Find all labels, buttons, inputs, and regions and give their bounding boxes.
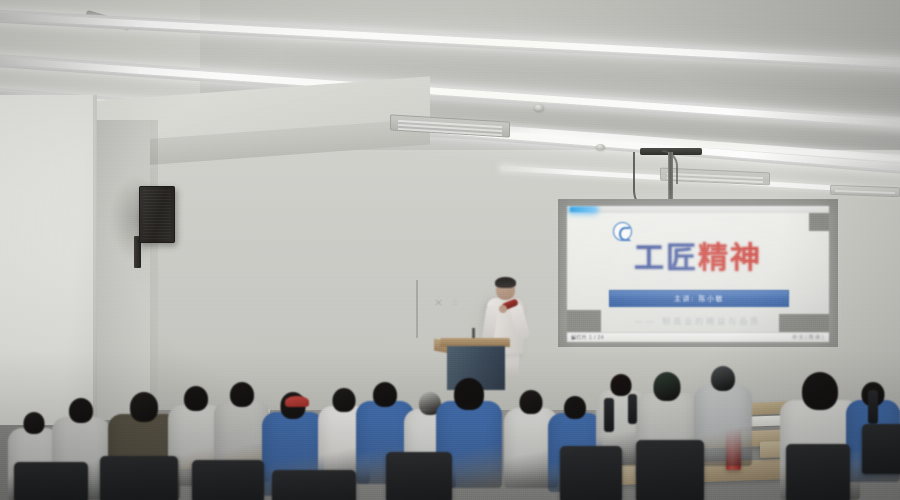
whiteboard-mark: × — [434, 296, 444, 309]
whiteboard-edge — [416, 280, 418, 338]
chair-1 — [14, 462, 88, 500]
slide-speaker-banner: 主讲: 陈小敏 — [609, 290, 789, 307]
audience-member-head — [373, 382, 397, 407]
slide-logo-icon — [613, 222, 632, 241]
screen-corner-bottom-left — [567, 310, 601, 332]
audience-member-head — [454, 378, 484, 410]
presenter-hand — [499, 305, 507, 313]
slide-title: 工匠精神 — [567, 244, 829, 274]
screen-light-reflection — [570, 207, 596, 212]
column-edge — [93, 95, 97, 425]
screen-corner-top-right — [809, 213, 829, 231]
wall-speaker — [139, 186, 175, 243]
chair-back-post-2 — [628, 394, 637, 424]
slide-top-bar — [567, 206, 829, 213]
slide-title-red: 精神 — [698, 241, 762, 276]
projection-screen: 工匠精神 主讲: 陈小敏 —— 制造业的精益与品质 幻灯片 1 / 24 中文(… — [567, 206, 829, 342]
chair-7 — [636, 440, 704, 500]
audience-member-head — [333, 388, 356, 412]
audience-member-head — [24, 412, 45, 434]
chair-6 — [560, 446, 622, 500]
chair-9 — [862, 424, 900, 474]
left-column — [0, 95, 96, 425]
audience-member-head — [130, 392, 158, 422]
audience-member-head — [611, 374, 632, 396]
audience-member-head — [69, 398, 93, 423]
chair-3 — [192, 460, 264, 500]
slide-status-bar: 幻灯片 1 / 24 中文(简体) — [567, 332, 829, 342]
audience-member-head — [520, 390, 543, 414]
presenter-hair — [495, 277, 516, 288]
screen-corner-bottom-right — [779, 314, 829, 332]
audience-member-head — [654, 372, 681, 401]
slideshow-play-icon — [572, 336, 576, 340]
chair-4 — [272, 470, 356, 500]
audience-member-head — [564, 396, 586, 419]
slide-title-blue: 工匠 — [634, 241, 698, 276]
chair-2 — [100, 456, 178, 500]
audience-member-head — [184, 386, 208, 411]
whiteboard-mark-small: 三 — [452, 298, 458, 307]
slide-speaker-text: 主讲: 陈小敏 — [674, 294, 724, 304]
chair-8 — [786, 444, 850, 500]
audience-member-head — [711, 366, 735, 391]
audience-member-head — [802, 372, 838, 410]
chair-back-post-3 — [868, 390, 878, 424]
audience-member-head — [230, 382, 254, 407]
chair-back-post-1 — [604, 398, 614, 432]
speaker-grill — [143, 190, 171, 239]
red-cap — [285, 396, 309, 407]
slide-language-label: 中文(简体) — [792, 334, 825, 341]
classroom-photo: × 三 工匠精神 主讲: 陈小敏 —— 制造业的精益与品质 幻灯片 1 / 24… — [0, 0, 900, 500]
left-wall-shadow — [96, 120, 158, 420]
ceiling-sensor — [596, 144, 605, 150]
smoke-detector — [534, 104, 544, 111]
chair-5 — [386, 452, 452, 500]
